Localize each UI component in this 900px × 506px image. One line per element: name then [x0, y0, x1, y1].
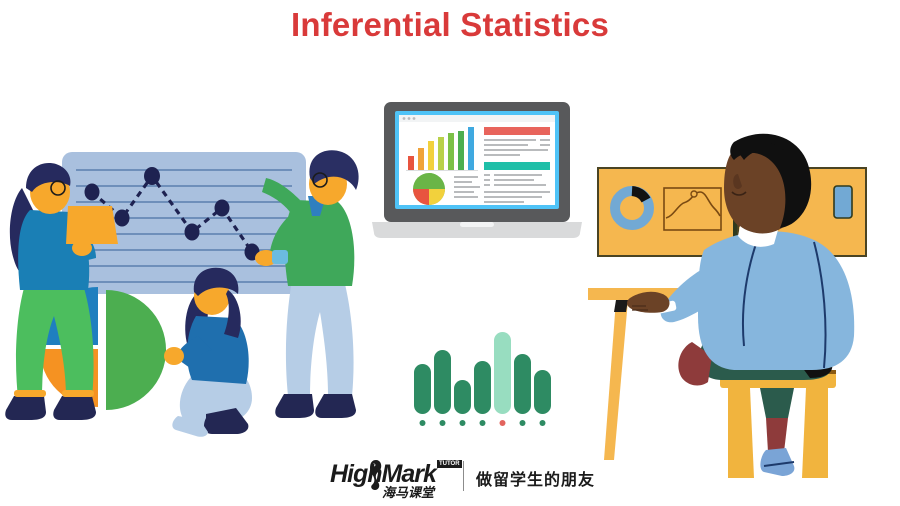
logo-divider: [463, 461, 464, 491]
slide-canvas: Inferential Statistics: [0, 0, 900, 506]
bar-group: [414, 332, 551, 414]
bar-dot-axis: [420, 420, 546, 426]
side-panel-widget: [834, 186, 852, 218]
team-analyzing-charts: [0, 140, 380, 460]
watermark-logo: HighMark TUTOR 海马课堂 做留学生的朋友: [330, 458, 590, 504]
laptop-pie-chart: [413, 173, 445, 205]
brand-chinese: 海马课堂: [382, 482, 434, 501]
trademark-badge: TUTOR: [437, 460, 462, 468]
analyst-at-desk: [588, 130, 900, 490]
laptop-dashboard: [368, 100, 588, 245]
slogan-text: 做留学生的朋友: [476, 466, 595, 490]
green-bar-chart: [408, 318, 558, 430]
page-title: Inferential Statistics: [0, 6, 900, 44]
